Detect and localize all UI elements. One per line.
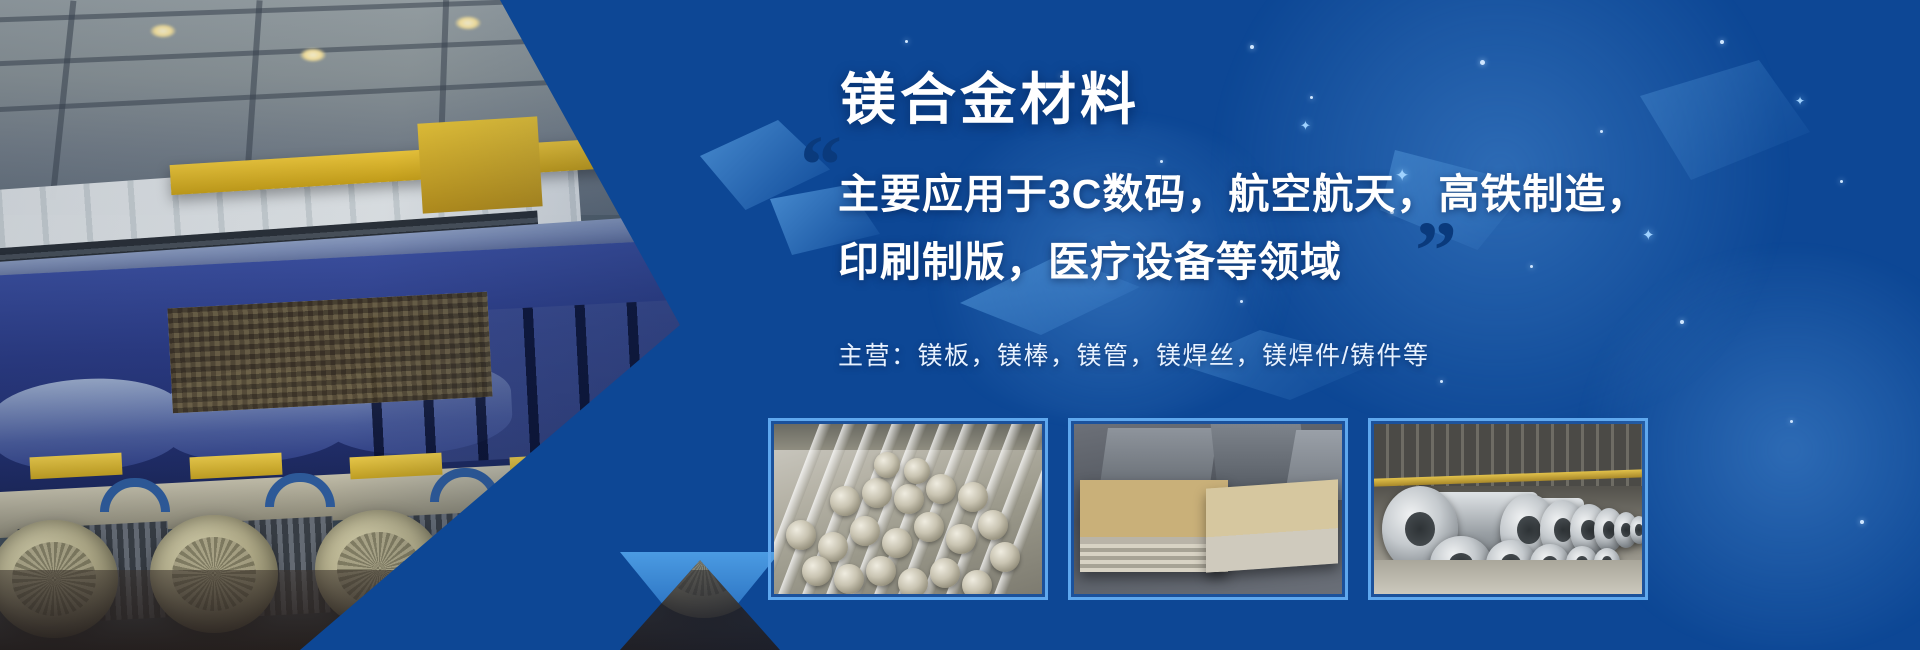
subtitle-line-1: 主要应用于3C数码，航空航天，高铁制造， [838,160,1648,220]
coils-image [1374,424,1642,594]
thumbnail-magnesium-plates[interactable] [1068,418,1348,600]
quote-open-mark: “ [800,132,842,199]
quote-close-mark: ” [1415,218,1457,285]
bars-image [774,424,1042,594]
page-title: 镁合金材料 [840,55,1140,136]
thumbnail-magnesium-bars[interactable] [768,418,1048,600]
thumbnail-magnesium-coils[interactable] [1368,418,1648,600]
warehouse-floor [1374,560,1642,594]
main-products-line: 主营：镁板，镁棒，镁管，镁焊丝，镁焊件/铸件等 [838,336,1429,372]
plates-image [1074,424,1342,594]
banner-content: 镁合金材料 “ ” 主要应用于3C数码，航空航天，高铁制造， 印刷制版，医疗设备… [0,0,1920,650]
product-thumbnail-row [768,418,1648,600]
product-banner: ✦ ✦ ✦ ✦ ✦ 镁合金材料 “ ” 主要应用于3C数码，航空航天，高铁制造，… [0,0,1920,650]
subtitle-line-2: 印刷制版，医疗设备等领域 [838,228,1342,288]
